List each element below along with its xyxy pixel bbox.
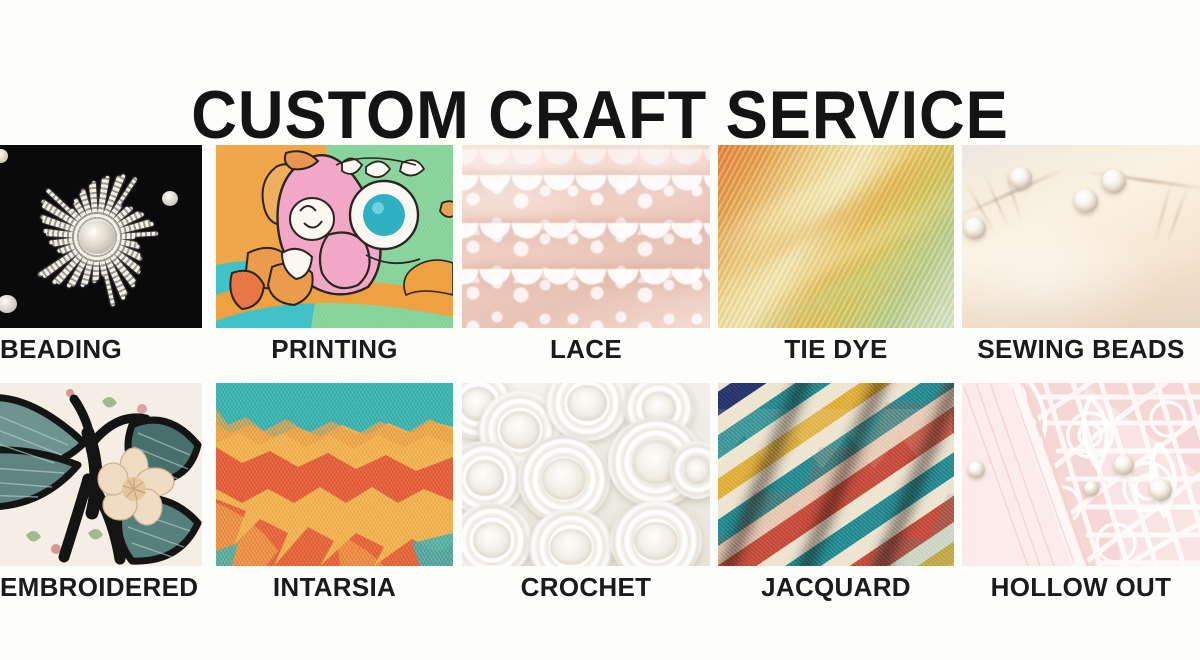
chevron-knit-swatch [718,383,954,566]
craft-label-intarsia: INTARSIA [216,571,453,603]
pearl [964,217,986,239]
pearl [1010,167,1032,189]
craft-card-beading[interactable]: BEADING [0,145,202,328]
craft-label-beading: BEADING [0,333,210,365]
craft-card-crochet[interactable]: CROCHET [462,383,710,566]
craft-grid: BEADING [0,145,1200,621]
craft-card-jacquard[interactable]: JACQUARD [718,383,954,566]
craft-card-lace[interactable]: LACE [462,145,710,328]
beaded-starburst-swatch [0,145,202,328]
craft-card-intarsia[interactable]: INTARSIA [216,383,453,566]
jacquard-artwork [718,383,954,566]
craft-card-embroidered[interactable]: EMBROIDERED [0,383,202,566]
craft-label-sewing-beads: SEWING BEADS [962,333,1200,365]
craft-label-embroidered: EMBROIDERED [0,571,210,603]
printing-artwork [216,145,453,328]
intarsia-artwork [216,383,453,566]
openwork-lace-swatch [962,383,1200,566]
sewing-beads-artwork [962,145,1200,328]
craft-label-jacquard: JACQUARD [718,571,954,603]
ruffled-lace-swatch [462,145,710,328]
craft-card-hollow-out[interactable]: HOLLOW OUT [962,383,1200,566]
craft-label-hollow-out: HOLLOW OUT [962,571,1200,603]
craft-service-poster: CUSTOM CRAFT SERVICE BEADING [0,0,1200,660]
tie-dye-artwork [718,145,954,328]
craft-label-tie-dye: TIE DYE [718,333,954,365]
crochet-rosette-swatch [462,383,710,566]
craft-card-sewing-beads[interactable]: SEWING BEADS [962,145,1200,328]
beading-artwork [0,145,202,328]
pearl [1074,189,1098,213]
pearl [1150,479,1172,501]
flame-knit-swatch [216,383,453,566]
crochet-artwork [462,383,710,566]
embroidered-artwork [0,383,202,566]
lace-artwork [462,145,710,328]
page-title: CUSTOM CRAFT SERVICE [42,76,1158,154]
craft-card-printing[interactable]: PRINTING [216,145,453,328]
tie-dye-swatch [718,145,954,328]
craft-card-tie-dye[interactable]: TIE DYE [718,145,954,328]
craft-row-1: BEADING [0,145,1200,383]
craft-row-2: EMBROIDERED [0,383,1200,621]
pearl [1114,455,1134,475]
butterfly-embroidery-swatch [0,383,202,566]
pearl-satin-swatch [962,145,1200,328]
craft-label-crochet: CROCHET [462,571,710,603]
craft-label-printing: PRINTING [216,333,453,365]
pearl [1102,169,1126,193]
pearl [968,461,985,478]
hollow-out-artwork [962,383,1200,566]
cartoon-print-swatch [216,145,453,328]
craft-label-lace: LACE [462,333,710,365]
pearl [1084,481,1099,496]
